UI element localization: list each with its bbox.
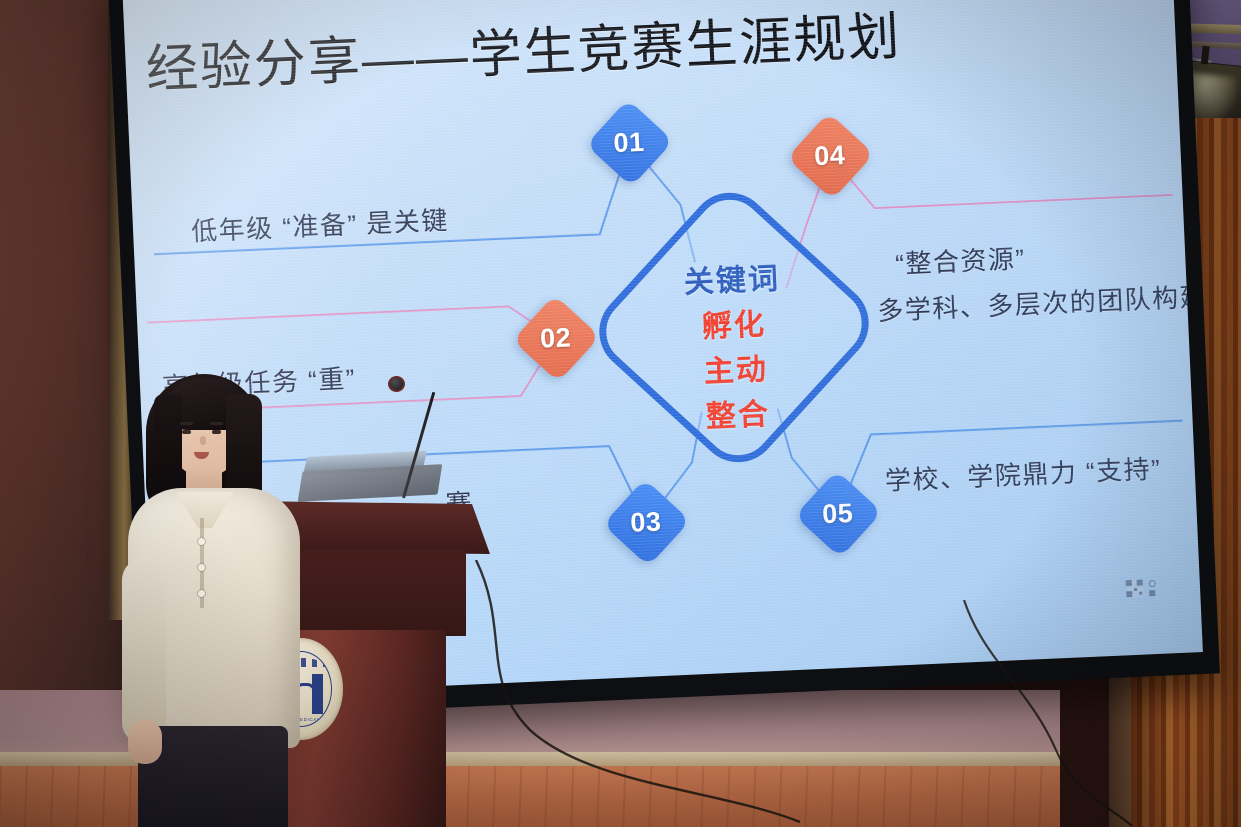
center-keyword-1: 孵化 [701, 299, 767, 346]
watermark-dot-icon [1149, 579, 1156, 586]
item-04-text-line1: “整合资源” [894, 239, 1026, 284]
center-heading: 关键词 [683, 253, 781, 301]
speaker-brow-left [180, 422, 193, 425]
microphone-icon [388, 376, 405, 392]
badge-03-label: 03 [630, 506, 662, 538]
center-keyword-3: 整合 [705, 389, 771, 436]
slide-title: 经验分享——学生竞赛生涯规划 [145, 7, 903, 102]
speaker-eye-left [182, 430, 191, 434]
qr-code-icon [1126, 580, 1144, 598]
speaker-arm [122, 558, 166, 743]
connector-02 [147, 304, 556, 356]
watermark-marks [1149, 579, 1157, 595]
speaker-button-1 [198, 538, 205, 545]
badge-04-label: 04 [814, 140, 846, 172]
speaker-nose [200, 436, 206, 445]
speaker-brow-right [210, 422, 223, 425]
photo-scene: 经验分享——学生竞赛生涯规划 [0, 0, 1241, 827]
connector-04 [830, 141, 1172, 210]
speaker-eye-right [212, 430, 221, 434]
badge-05-label: 05 [822, 498, 854, 530]
floor-cable-right [960, 600, 1140, 827]
speaker-hand [128, 720, 162, 764]
speaker-button-3 [198, 590, 205, 597]
watermark-square-icon [1149, 590, 1155, 596]
badge-02-label: 02 [540, 322, 572, 354]
badge-01-label: 01 [613, 127, 645, 159]
center-keyword-2: 主动 [703, 344, 769, 391]
slide-watermark [1126, 579, 1157, 597]
laptop-icon [298, 464, 443, 502]
floor-cable [470, 560, 890, 825]
speaker-button-2 [198, 564, 205, 571]
center-keywords: 关键词 孵化 主动 整合 [616, 250, 854, 439]
speaker-presenter [118, 368, 318, 827]
